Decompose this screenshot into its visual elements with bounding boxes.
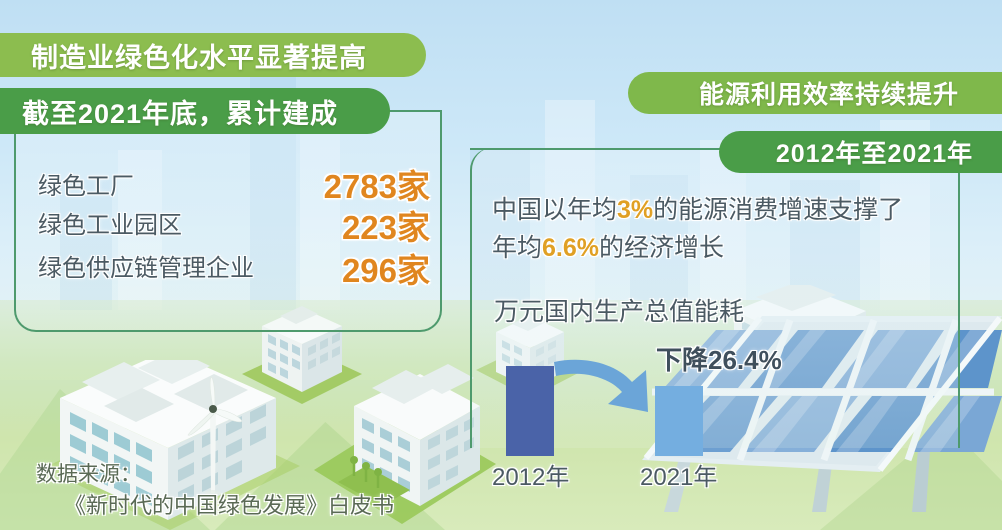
bar-label-2021: 2021年 bbox=[640, 457, 717, 492]
gdp-growth-value: 6.6% bbox=[542, 234, 599, 262]
line2-prefix: 年均 bbox=[492, 234, 542, 262]
line1-suffix: 的能源消费增速支撑了 bbox=[653, 196, 903, 224]
stat-row: 绿色工业园区 bbox=[38, 205, 182, 240]
chart-change-annotation: 下降26.4% bbox=[656, 340, 782, 377]
stat-label: 绿色工业园区 bbox=[38, 205, 182, 240]
source-document: 《新时代的中国绿色发展》白皮书 bbox=[64, 488, 394, 520]
bar-2012 bbox=[506, 366, 554, 456]
stat-label: 绿色供应链管理企业 bbox=[38, 248, 254, 283]
stat-value: 296家 bbox=[342, 244, 430, 292]
stat-row: 绿色工厂 bbox=[38, 166, 134, 201]
wind-turbine-icon bbox=[178, 375, 248, 495]
right-period-badge: 2012年至2021年 bbox=[719, 131, 1002, 173]
stat-value: 223家 bbox=[342, 201, 430, 249]
curved-down-arrow-icon bbox=[552, 356, 668, 424]
chart-caption: 万元国内生产总值能耗 bbox=[494, 292, 744, 328]
stat-label: 绿色工厂 bbox=[38, 166, 134, 201]
stat-row: 绿色供应链管理企业 bbox=[38, 248, 254, 283]
right-panel-header: 能源利用效率持续提升 bbox=[628, 72, 1002, 114]
energy-growth-value: 3% bbox=[617, 196, 653, 224]
energy-statement-line2: 年均6.6%的经济增长 bbox=[492, 228, 724, 264]
left-panel-header: 截至2021年底，累计建成 bbox=[0, 88, 390, 134]
page-title: 制造业绿色化水平显著提高 bbox=[0, 33, 426, 77]
energy-statement-line1: 中国以年均3%的能源消费增速支撑了 bbox=[492, 190, 903, 226]
right-panel-top-border bbox=[470, 148, 720, 150]
line2-suffix: 的经济增长 bbox=[599, 234, 724, 262]
source-label: 数据来源： bbox=[36, 458, 141, 488]
infographic-canvas: 制造业绿色化水平显著提高 截至2021年底，累计建成 能源利用效率持续提升 20… bbox=[0, 0, 1002, 530]
bar-label-2012: 2012年 bbox=[492, 457, 569, 492]
line1-prefix: 中国以年均 bbox=[492, 196, 617, 224]
